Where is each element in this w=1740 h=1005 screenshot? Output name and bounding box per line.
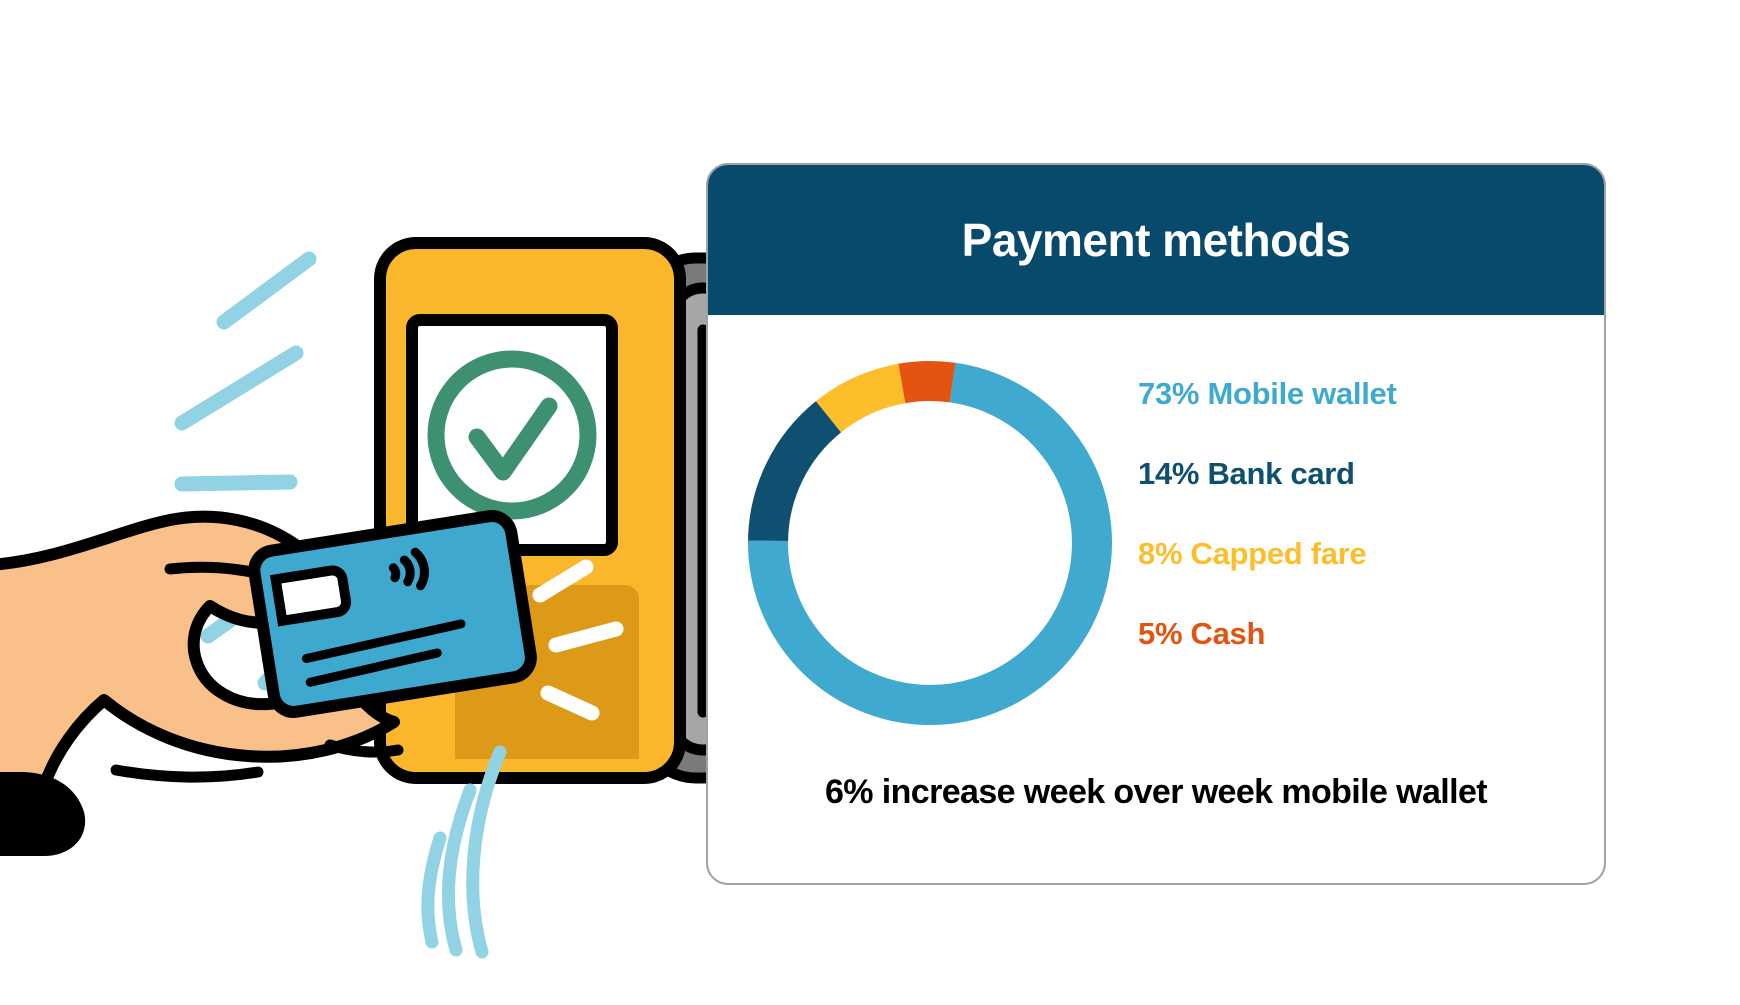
bank-card-illustration [251, 513, 533, 715]
contactless-payment-illustration [0, 0, 800, 1000]
chart-legend: 73% Mobile wallet 14% Bank card 8% Cappe… [1138, 377, 1588, 651]
donut-segment-cash[interactable] [902, 381, 953, 383]
chart-caption: 6% increase week over week mobile wallet [708, 773, 1604, 812]
page-title: Payment methods [962, 213, 1351, 267]
legend-item-capped-fare[interactable]: 8% Capped fare [1138, 537, 1588, 571]
donut-segment-capped-fare[interactable] [829, 383, 902, 416]
legend-item-bank-card[interactable]: 14% Bank card [1138, 457, 1588, 491]
card-body: 73% Mobile wallet 14% Bank card 8% Cappe… [708, 315, 1604, 885]
payment-methods-card: Payment methods 73% Mobile wallet 14% Ba… [706, 163, 1606, 885]
donut-chart [730, 343, 1130, 743]
donut-chart-svg [730, 343, 1130, 743]
screenshot-root: Payment methods 73% Mobile wallet 14% Ba… [0, 0, 1740, 1000]
legend-item-mobile-wallet[interactable]: 73% Mobile wallet [1138, 377, 1588, 411]
card-header: Payment methods [708, 165, 1604, 315]
legend-item-cash[interactable]: 5% Cash [1138, 617, 1588, 651]
donut-segment-bank-card[interactable] [768, 417, 828, 541]
